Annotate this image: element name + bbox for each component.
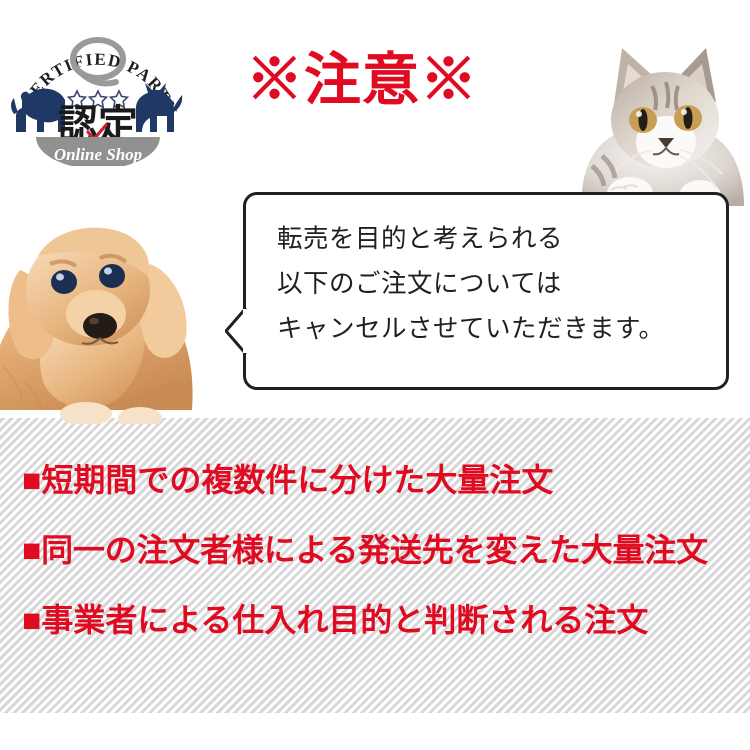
page-title: ※注意※ — [246, 52, 478, 109]
speech-bubble-line-2: 以下のご注文については — [277, 262, 718, 307]
cat-silhouette-icon — [136, 83, 182, 132]
speech-bubble-line-1: 転売を目的と考えられる — [277, 217, 718, 262]
badge-ribbon-label: Online Shop — [54, 145, 142, 164]
speech-bubble-tail — [225, 307, 247, 355]
dog-silhouette-icon — [11, 89, 65, 132]
speech-bubble: 転売を目的と考えられる 以下のご注文については キャンセルさせていただきます。 — [243, 192, 729, 390]
notice-list: ■短期間での複数件に分けた大量注文 ■同一の注文者様による発送先を変えた大量注文… — [22, 464, 738, 636]
list-item: ■事業者による仕入れ目的と判断される注文 — [22, 604, 738, 636]
list-item: ■同一の注文者様による発送先を変えた大量注文 — [22, 534, 738, 566]
dog-photo — [0, 186, 242, 424]
cat-photo — [578, 8, 750, 206]
list-item: ■短期間での複数件に分けた大量注文 — [22, 464, 738, 496]
speech-bubble-line-3: キャンセルさせていただきます。 — [277, 307, 718, 352]
certified-partner-badge: CERTIFIED PARTNER — [8, 8, 188, 166]
notice-banner: CERTIFIED PARTNER — [0, 0, 750, 750]
speech-bubble-text: 転売を目的と考えられる 以下のご注文については キャンセルさせていただきます。 — [277, 217, 718, 352]
